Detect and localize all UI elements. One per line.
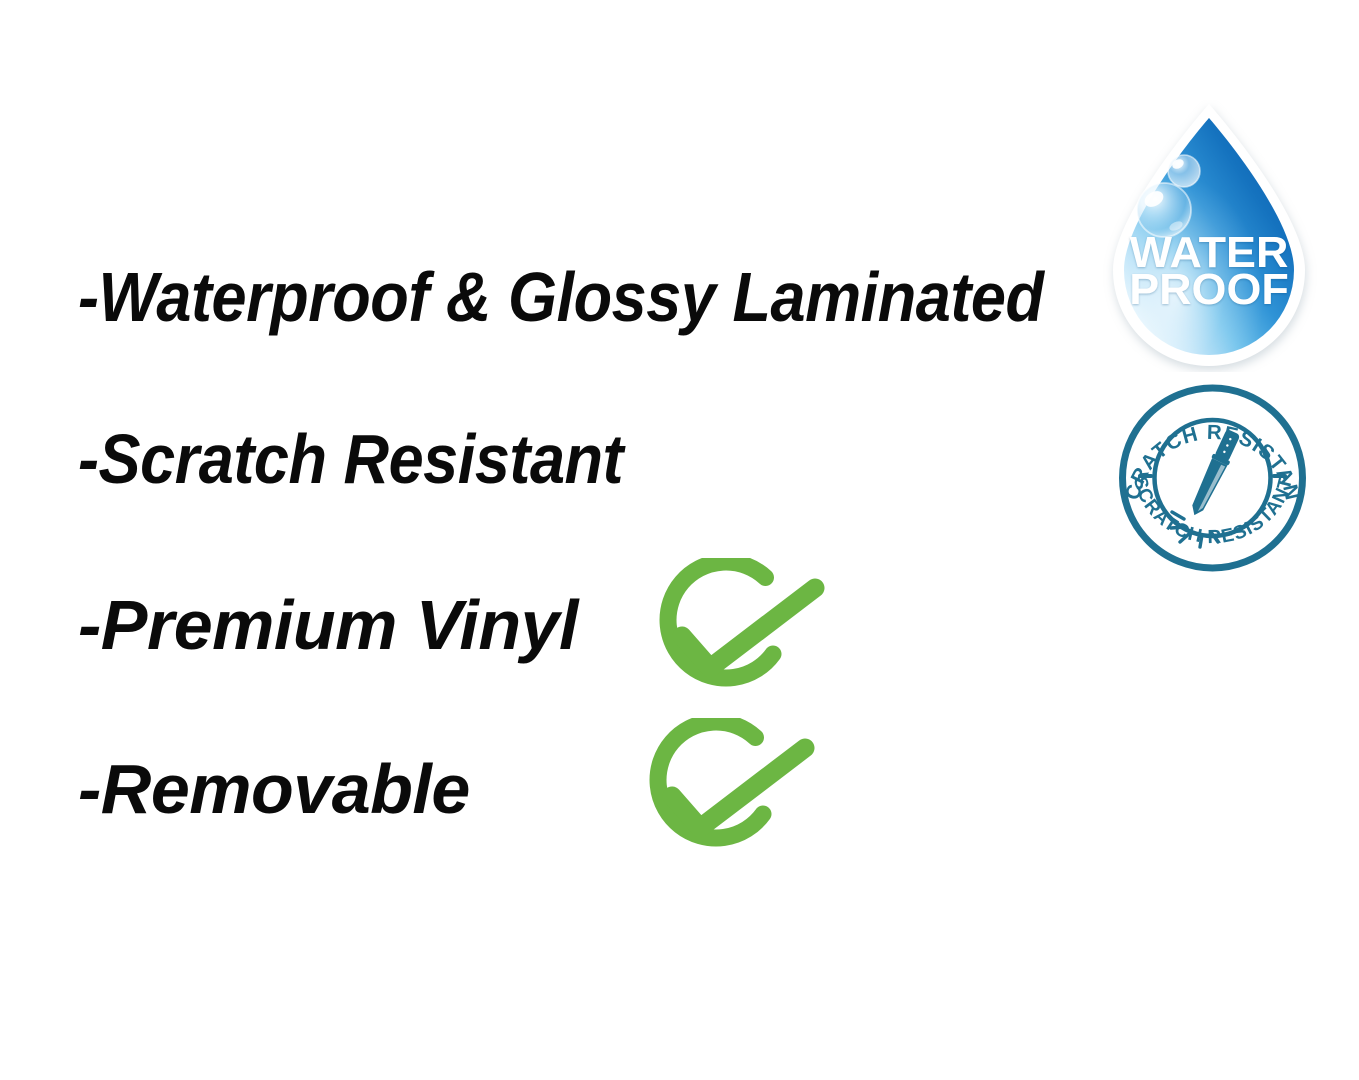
feature-item-waterproof-glossy-laminated: -Waterproof & Glossy Laminated bbox=[78, 262, 1044, 332]
waterproof-badge: WATER PROOF bbox=[1098, 100, 1320, 372]
feature-item-scratch-resistant: -Scratch Resistant bbox=[78, 424, 623, 494]
feature-item-removable: -Removable bbox=[78, 754, 470, 824]
scratch-resistant-badge: SCRATCH RESISTANT SCRATCH RESISTANT bbox=[1110, 383, 1315, 573]
water-bubble-large bbox=[1137, 183, 1191, 237]
check-stroke bbox=[672, 748, 805, 828]
check-circle-premium-vinyl-icon bbox=[640, 558, 840, 718]
check-circle-removable-icon bbox=[630, 718, 830, 878]
check-stroke bbox=[682, 588, 815, 668]
feature-list-graphic: -Waterproof & Glossy Laminated -Scratch … bbox=[0, 0, 1359, 1080]
feature-item-premium-vinyl: -Premium Vinyl bbox=[78, 590, 578, 660]
water-bubble-small bbox=[1168, 155, 1200, 187]
